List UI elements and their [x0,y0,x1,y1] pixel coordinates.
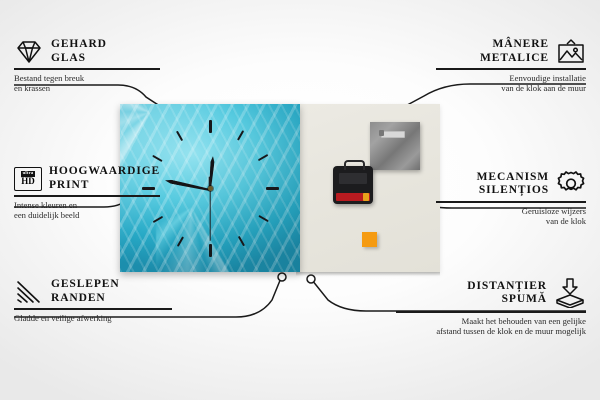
callout-rule [436,201,586,203]
plate-hole [379,130,384,136]
clock-mechanism [333,166,373,204]
metal-hanger-plate [370,122,420,170]
infographic-canvas: GEHARD GLAS Bestand tegen breuk en krass… [0,0,600,400]
callout-manere-metalice: MÂNERE METALICE Eenvoudige installatie v… [436,38,586,94]
callout-mecanism-silentios: MECANISM SILENȚIOS Geruisloze wijzers va… [436,170,586,227]
clock-minute-hand [165,178,211,191]
callout-desc: Gladde en veilige afwerking [14,313,174,324]
callout-title: MÂNERE METALICE [480,38,549,65]
callout-rule [14,195,160,197]
accessory-panel [296,104,440,272]
foam-spacer [362,232,377,247]
callout-desc: Eenvoudige installatie van de klok aan d… [436,73,586,94]
callout-rule [14,68,160,70]
plate-slot [381,131,405,138]
gear-icon [556,170,586,198]
mechanism-handle [344,160,365,170]
callout-title: GEHARD GLAS [51,38,107,65]
callout-distantier-spuma: DISTANȚIER SPUMĂ Maakt het behouden van … [396,278,586,337]
callout-title: DISTANȚIER SPUMĂ [396,280,547,307]
callout-rule [14,308,172,310]
callout-desc: Bestand tegen breuk en krassen [14,73,164,94]
callout-desc: Maakt het behouden van een gelijke afsta… [396,316,586,337]
callout-rule [436,68,586,70]
picture-frame-icon [556,39,586,65]
leader-dot-distantier [307,275,315,283]
diagonal-lines-icon [14,279,44,305]
mechanism-body [339,173,367,184]
callout-desc: Intense kleuren en een duidelijk beeld [14,200,164,221]
product-photo [120,104,440,276]
callout-geslepen-randen: GESLEPEN RANDEN Gladde en veilige afwerk… [14,278,174,323]
clock-second-hand [209,189,210,241]
callout-rule [396,311,586,313]
callout-title: GESLEPEN RANDEN [51,278,120,305]
diamond-icon [14,39,44,65]
callout-gehard-glas: GEHARD GLAS Bestand tegen breuk en krass… [14,38,164,94]
callout-title: MECANISM SILENȚIOS [477,171,549,198]
ultra-hd-icon: ultra HD [14,167,42,191]
callout-hoogwaardige-print: ultra HD HOOGWAARDIGE PRINT Intense kleu… [14,165,164,221]
down-arrow-stack-icon [554,278,586,308]
mechanism-label [336,193,370,201]
ultra-hd-icon-main-label: HD [21,177,35,186]
clock-center-pin [208,186,213,191]
callout-title: HOOGWAARDIGE PRINT [49,165,160,192]
callout-desc: Geruisloze wijzers van de klok [436,206,586,227]
